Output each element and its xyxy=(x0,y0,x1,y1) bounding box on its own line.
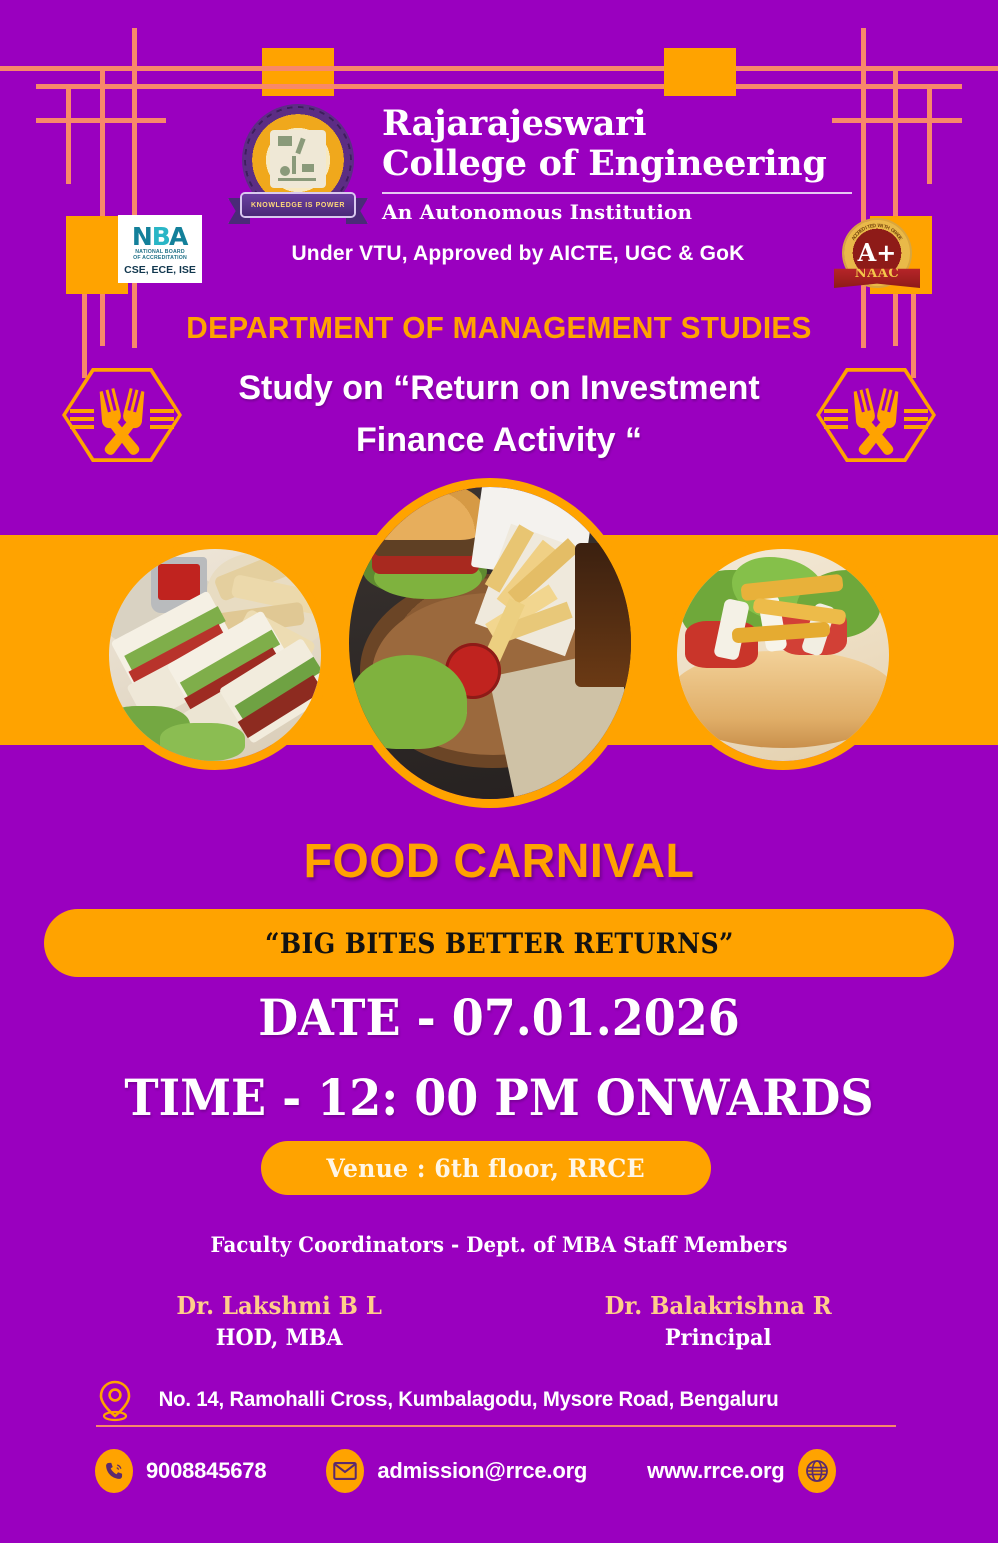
signatory-role: HOD, MBA xyxy=(96,1322,463,1354)
accent-bar xyxy=(904,417,928,421)
website-block[interactable]: www.rrce.org xyxy=(647,1449,835,1493)
address-row: No. 14, Ramohalli Cross, Kumbalagodu, My… xyxy=(95,1378,895,1422)
accent-bar xyxy=(150,425,174,429)
food-photo-burger-fries-cola xyxy=(340,478,640,808)
crossed-forks-hexagon-icon-left xyxy=(62,365,182,465)
event-title: FOOD CARNIVAL xyxy=(15,834,983,889)
college-name-line1: Rajarajeswari xyxy=(382,104,852,144)
signatory-name: Dr. Lakshmi B L xyxy=(96,1290,463,1322)
signatory-hod: Dr. Lakshmi B L HOD, MBA xyxy=(86,1290,472,1354)
crossed-forks-icon xyxy=(62,365,182,465)
event-date: DATE - 07.01.2026 xyxy=(40,988,958,1047)
food-photo-hot-dog xyxy=(668,540,898,770)
study-title: Study on “Return on Investment Finance A… xyxy=(130,362,868,466)
phone-icon xyxy=(95,1449,133,1493)
department-title: DEPARTMENT OF MANAGEMENT STUDIES xyxy=(20,310,978,346)
nba-letter-b: B xyxy=(152,222,170,251)
globe-icon xyxy=(798,1449,836,1493)
phone-block[interactable]: 9008845678 xyxy=(95,1449,266,1493)
email-icon xyxy=(326,1449,364,1493)
study-title-line1: Study on “Return on Investment xyxy=(130,362,868,414)
email-address: admission@rrce.org xyxy=(377,1458,587,1484)
accent-bar xyxy=(150,417,174,421)
college-name-line2: College of Engineering xyxy=(382,144,852,184)
event-venue: Venue : 6th floor, RRCE xyxy=(327,1154,645,1183)
college-autonomous-label: An Autonomous Institution xyxy=(382,200,852,224)
footer-divider xyxy=(96,1425,896,1427)
event-tagline: “BIG BITES BETTER RETURNS” xyxy=(265,927,734,960)
deco-line xyxy=(0,66,736,71)
event-venue-pill: Venue : 6th floor, RRCE xyxy=(261,1141,711,1195)
crossed-forks-icon xyxy=(816,365,936,465)
seal-motto: KNOWLEDGE IS POWER xyxy=(242,194,354,216)
seal-emblem-art xyxy=(270,130,326,188)
accent-bar xyxy=(150,409,174,413)
deco-line xyxy=(36,84,736,89)
seal-ribbon: KNOWLEDGE IS POWER xyxy=(228,188,368,224)
deco-square xyxy=(664,48,736,96)
accent-bar xyxy=(70,409,94,413)
crossed-forks-hexagon-icon-right xyxy=(816,365,936,465)
deco-line xyxy=(718,66,948,71)
contact-row: 9008845678 admission@rrce.org www.rrce.o… xyxy=(95,1442,905,1500)
nba-letter-n: N xyxy=(132,222,152,251)
coordinators-heading: Faculty Coordinators - Dept. of MBA Staf… xyxy=(30,1232,968,1257)
nba-departments: CSE, ECE, ISE xyxy=(124,264,196,276)
signatory-role: Principal xyxy=(535,1322,902,1354)
affiliation-text: Under VTU, Approved by AICTE, UGC & GoK xyxy=(258,242,778,266)
accent-bar xyxy=(70,417,94,421)
college-name-block: Rajarajeswari College of Engineering An … xyxy=(382,104,852,224)
signatory-name: Dr. Balakrishna R xyxy=(535,1290,902,1322)
nba-subtitle-line2: OF ACCREDITATION xyxy=(133,255,187,261)
accent-bar xyxy=(824,417,848,421)
accent-bar xyxy=(904,425,928,429)
accent-bar xyxy=(824,409,848,413)
nba-wordmark: NBA xyxy=(132,225,188,249)
website-url: www.rrce.org xyxy=(647,1458,784,1484)
phone-number: 9008845678 xyxy=(146,1458,266,1484)
study-title-line2: Finance Activity “ xyxy=(130,414,868,466)
event-tagline-pill: “BIG BITES BETTER RETURNS” xyxy=(44,909,954,977)
name-divider xyxy=(382,192,852,194)
seal-motto-text: KNOWLEDGE IS POWER xyxy=(251,202,345,209)
address-text: No. 14, Ramohalli Cross, Kumbalagodu, My… xyxy=(159,1388,779,1412)
nba-accreditation-logo: NBA NATIONAL BOARD OF ACCREDITATION CSE,… xyxy=(118,215,202,283)
event-poster: KNOWLEDGE IS POWER Rajarajeswari College… xyxy=(0,0,998,1543)
signatory-principal: Dr. Balakrishna R Principal xyxy=(525,1290,911,1354)
nba-letter-a: A xyxy=(170,225,188,249)
naac-grade-badge: A+ ACCREDITED WITH GRADE NAAC xyxy=(834,220,920,296)
event-time: TIME - 12: 00 PM ONWARDS xyxy=(40,1068,958,1127)
signatories-row: Dr. Lakshmi B L HOD, MBA Dr. Balakrishna… xyxy=(60,1290,938,1354)
deco-line xyxy=(718,84,932,89)
food-photo-club-sandwich xyxy=(100,540,330,770)
location-pin-icon xyxy=(95,1378,135,1422)
college-seal-icon: KNOWLEDGE IS POWER xyxy=(228,106,368,224)
accent-bar xyxy=(904,409,928,413)
accent-bar xyxy=(824,425,848,429)
accent-bar xyxy=(70,425,94,429)
email-block[interactable]: admission@rrce.org xyxy=(326,1449,587,1493)
